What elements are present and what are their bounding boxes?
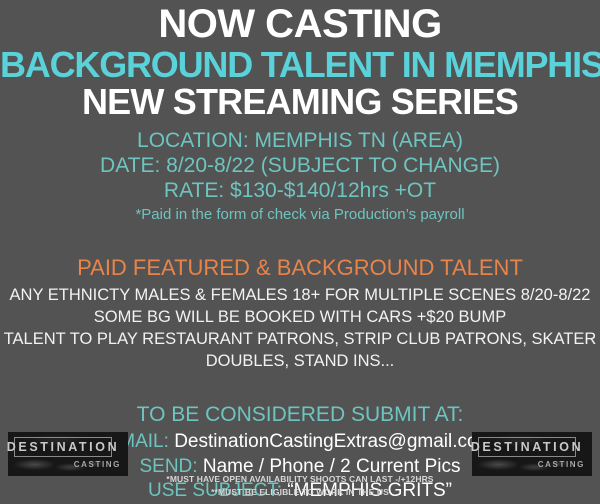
destination-casting-logo-left: DESTINATION CASTING xyxy=(8,432,128,476)
logo-left-subtext: CASTING xyxy=(74,461,121,469)
roles-line-1: ANY ETHNICTY MALES & FEMALES 18+ FOR MUL… xyxy=(0,285,600,307)
footer-line-1: *MUST HAVE OPEN AVAILABILITY SHOOTS CAN … xyxy=(0,473,600,485)
headline-background-talent: BACKGROUND TALENT IN MEMPHIS xyxy=(0,46,600,83)
footer-block: *MUST HAVE OPEN AVAILABILITY SHOOTS CAN … xyxy=(0,473,600,498)
submit-email-value: DestinationCastingExtras@gmail.com xyxy=(174,431,493,452)
logo-right-wordmark: DESTINATION xyxy=(471,441,583,454)
headline-block: NOW CASTING BACKGROUND TALENT IN MEMPHIS… xyxy=(0,0,600,120)
headline-now-casting: NOW CASTING xyxy=(0,4,600,46)
detail-payment-note: *Paid in the form of check via Productio… xyxy=(0,206,600,224)
detail-location: LOCATION: MEMPHIS TN (AREA) xyxy=(0,129,600,154)
logo-right-subtext: CASTING xyxy=(538,461,585,469)
details-block: LOCATION: MEMPHIS TN (AREA) DATE: 8/20-8… xyxy=(0,129,600,223)
logo-left-wordmark: DESTINATION xyxy=(7,441,119,454)
casting-call-flyer: NOW CASTING BACKGROUND TALENT IN MEMPHIS… xyxy=(0,0,600,503)
detail-rate: RATE: $130-$140/12hrs +OT xyxy=(0,179,600,204)
headline-new-streaming-series: NEW STREAMING SERIES xyxy=(0,83,600,120)
submit-heading: TO BE CONSIDERED SUBMIT AT: xyxy=(0,401,600,428)
detail-date: DATE: 8/20-8/22 (SUBJECT TO CHANGE) xyxy=(0,154,600,179)
destination-casting-logo-right: DESTINATION CASTING xyxy=(472,432,592,476)
logo-left-box: DESTINATION xyxy=(14,437,112,457)
roles-line-4: DOUBLES, STAND INS... xyxy=(0,351,600,373)
logo-right-box: DESTINATION xyxy=(478,437,576,457)
footer-line-2: **MUST BE ELIGIBLE TO WORK IN THE US xyxy=(0,486,600,498)
roles-line-3: TALENT TO PLAY RESTAURANT PATRONS, STRIP… xyxy=(0,329,600,351)
roles-block: PAID FEATURED & BACKGROUND TALENT ANY ET… xyxy=(0,255,600,372)
roles-heading: PAID FEATURED & BACKGROUND TALENT xyxy=(0,255,600,281)
roles-line-2: SOME BG WILL BE BOOKED WITH CARS +$20 BU… xyxy=(0,307,600,329)
